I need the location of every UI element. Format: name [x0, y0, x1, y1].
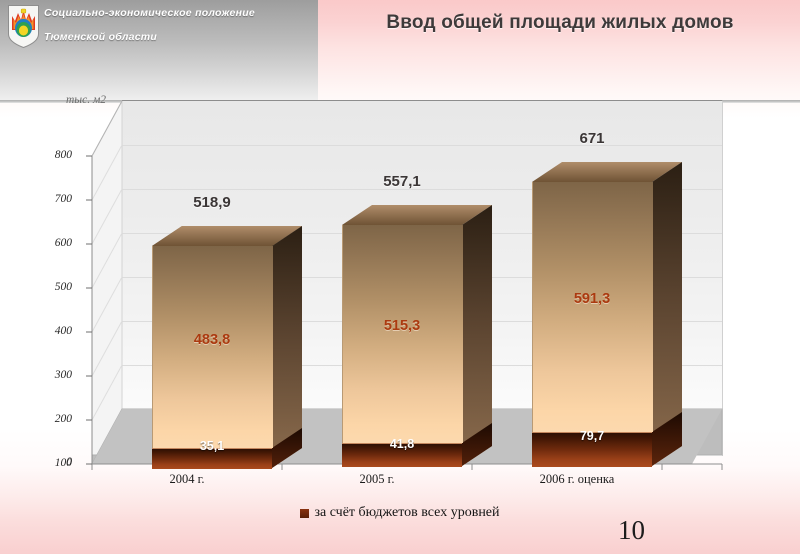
y-tick-label: 300	[30, 369, 72, 381]
legend-label: за счёт бюджетов всех уровней	[314, 505, 499, 521]
y-tick-label: 700	[30, 193, 72, 205]
y-axis-title: тыс. м2	[66, 94, 106, 106]
bar-front-upper-2005	[342, 225, 463, 443]
bar-value-label-2004: 483,8	[152, 332, 272, 348]
legend-swatch-icon	[300, 509, 309, 518]
tyumen-oblast-coat-of-arms-icon	[7, 4, 40, 49]
org-line-1: Социально-экономическое положение	[44, 6, 309, 20]
chart-3d-stacked-column: тыс. м2	[0, 86, 800, 506]
bar-budget-label-2004: 35,1	[152, 439, 272, 453]
bar-group-2005[interactable]	[342, 205, 462, 466]
x-tick-label-2006: 2006 г. оценка	[497, 472, 657, 487]
organization-title: Социально-экономическое положение Тюменс…	[44, 6, 309, 54]
bar-group-2006[interactable]	[532, 162, 652, 466]
x-tick-label-2005: 2005 г.	[317, 472, 437, 487]
y-tick-label: 800	[30, 149, 72, 161]
org-line-2: Тюменской области	[44, 30, 309, 44]
slide: Социально-экономическое положение Тюменс…	[0, 0, 800, 554]
bar-value-label-2005: 515,3	[342, 318, 462, 334]
bar-budget-label-2006: 79,7	[532, 429, 652, 443]
bar-value-label-2006: 591,3	[532, 291, 652, 307]
y-tick-label: 0	[30, 456, 72, 468]
y-tick-label: 400	[30, 325, 72, 337]
bar-front-upper-2006	[532, 182, 653, 432]
y-tick-label: 500	[30, 281, 72, 293]
chart-legend: за счёт бюджетов всех уровней	[0, 505, 800, 521]
page-number: 10	[618, 515, 645, 546]
bar-total-label-2006: 671	[532, 130, 652, 147]
x-tick-label-2004: 2004 г.	[127, 472, 247, 487]
bar-budget-label-2005: 41,8	[342, 437, 462, 451]
y-tick-label: 200	[30, 413, 72, 425]
bar-total-label-2005: 557,1	[342, 173, 462, 190]
y-tick-label: 600	[30, 237, 72, 249]
page-title: Ввод общей площади жилых домов	[330, 12, 790, 34]
bar-total-label-2004: 518,9	[152, 194, 272, 211]
